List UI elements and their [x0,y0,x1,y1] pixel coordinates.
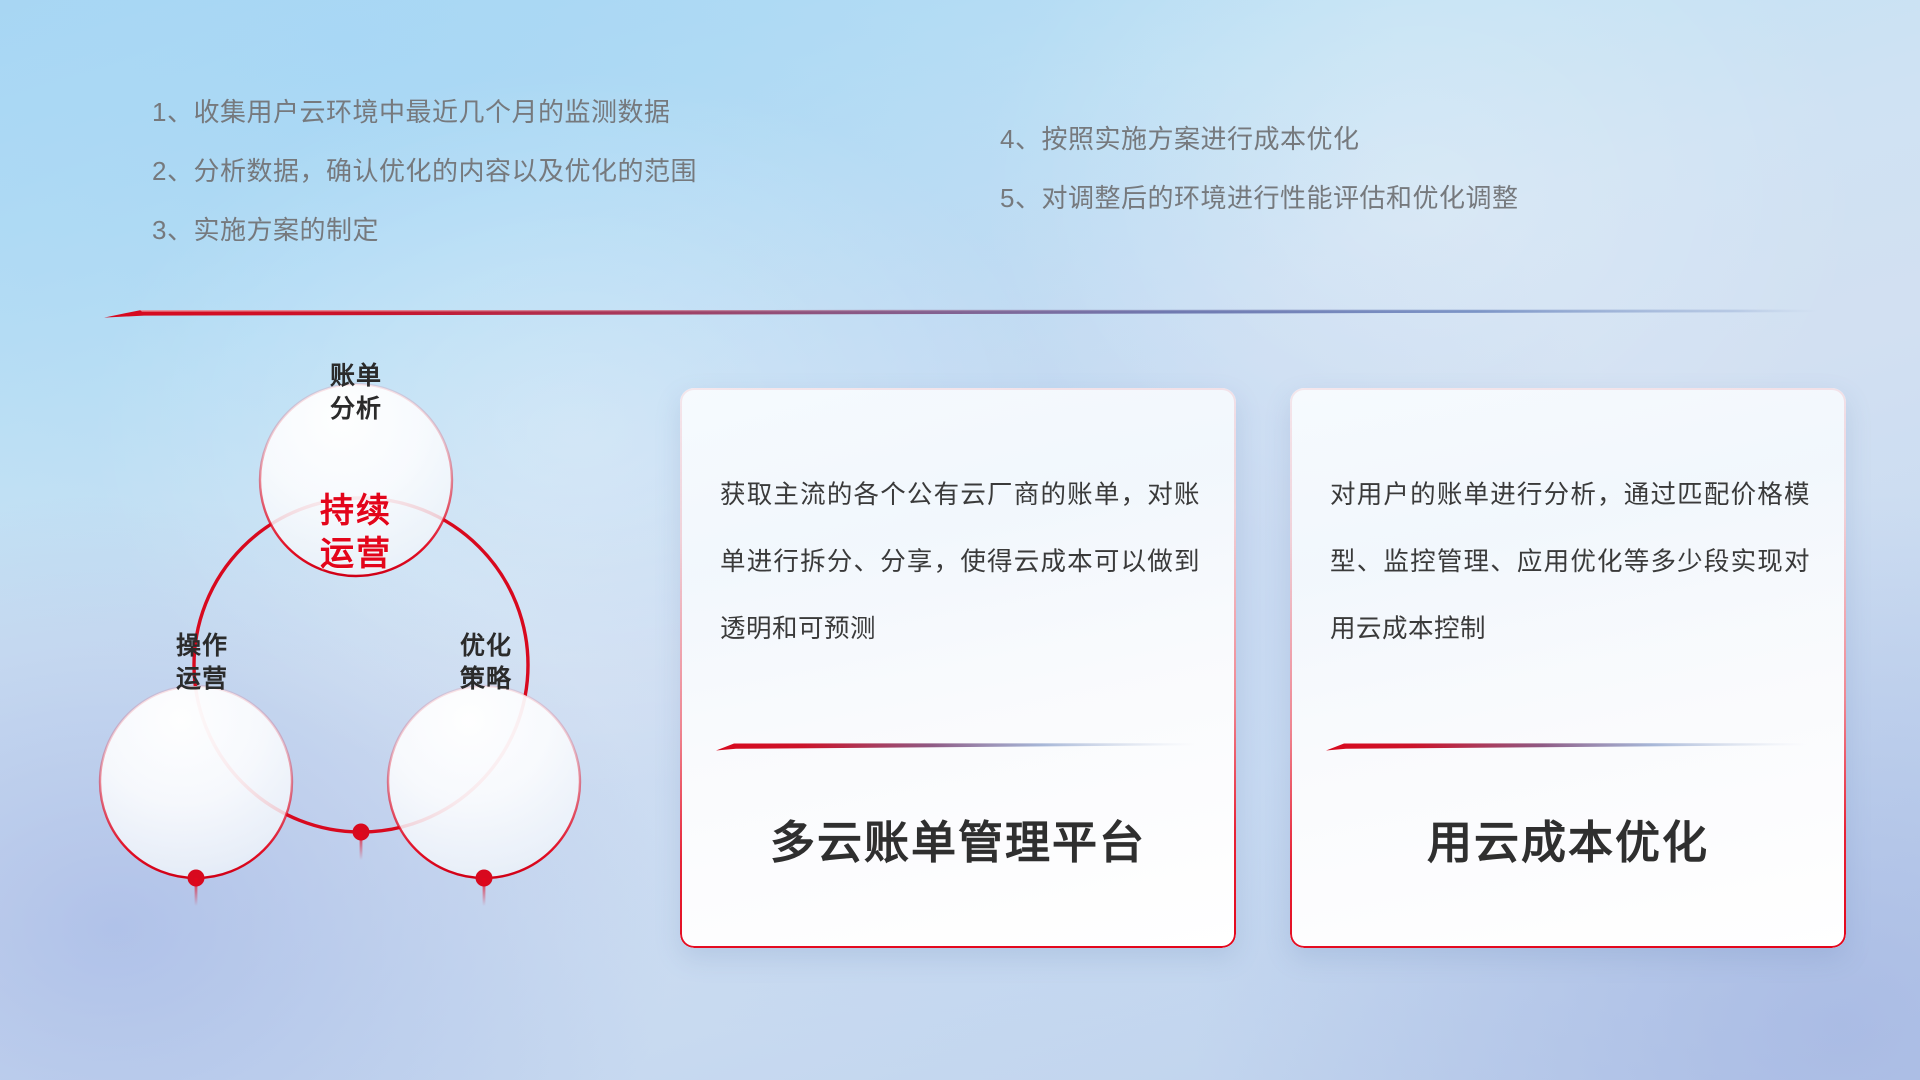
card-body-text: 获取主流的各个公有云厂商的账单，对账单进行拆分、分享，使得云成本可以做到透明和可… [720,462,1200,662]
bullet-item: 4、按照实施方案进行成本优化 [1000,126,1518,152]
card-divider [1326,740,1806,752]
card-title: 多云账单管理平台 [680,806,1236,871]
venn-diagram [96,330,656,950]
bullet-item: 1、收集用户云环境中最近几个月的监测数据 [152,99,697,125]
section-divider [104,305,1820,319]
bullet-list-left: 1、收集用户云环境中最近几个月的监测数据 2、分析数据，确认优化的内容以及优化的… [152,99,697,243]
bullet-item: 2、分析数据，确认优化的内容以及优化的范围 [152,158,697,184]
feature-card-multicloud-billing[interactable]: 获取主流的各个公有云厂商的账单，对账单进行拆分、分享，使得云成本可以做到透明和可… [680,388,1236,948]
card-title: 用云成本优化 [1290,806,1846,871]
venn-node-left [100,686,292,906]
card-body-text: 对用户的账单进行分析，通过匹配价格模型、监控管理、应用优化等多少段实现对用云成本… [1330,462,1810,662]
venn-node-right [388,686,580,906]
feature-card-cloud-cost-optimization[interactable]: 对用户的账单进行分析，通过匹配价格模型、监控管理、应用优化等多少段实现对用云成本… [1290,388,1846,948]
bullet-item: 3、实施方案的制定 [152,217,697,243]
card-divider [716,740,1196,752]
slide-canvas: 1、收集用户云环境中最近几个月的监测数据 2、分析数据，确认优化的内容以及优化的… [0,0,1920,1080]
bullet-list-right: 4、按照实施方案进行成本优化 5、对调整后的环境进行性能评估和优化调整 [1000,126,1518,211]
bullet-item: 5、对调整后的环境进行性能评估和优化调整 [1000,185,1518,211]
